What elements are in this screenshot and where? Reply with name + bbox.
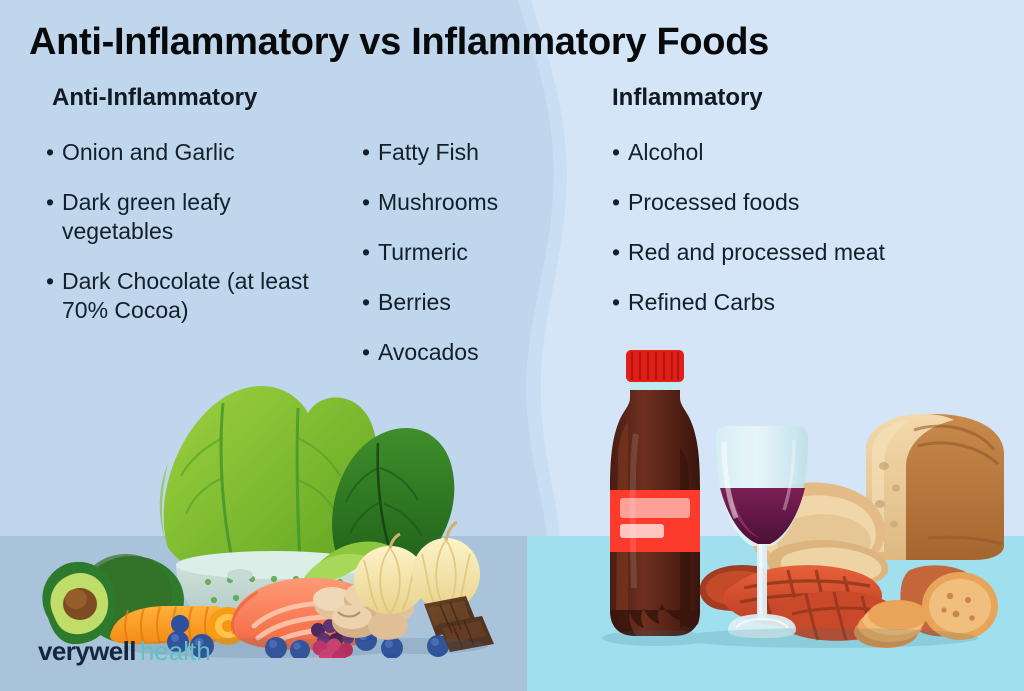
anti-inflammatory-list-column-2: • Fatty Fish • Mushrooms • Turmeric • Be… (362, 138, 582, 388)
list-item: • Turmeric (362, 238, 582, 267)
page-title: Anti-Inflammatory vs Inflammatory Foods (29, 21, 769, 64)
bread-loaf (866, 414, 1004, 560)
list-item-label: Berries (378, 288, 582, 317)
logo-word-health: health (140, 636, 211, 666)
bullet-icon: • (362, 238, 378, 267)
bullet-icon: • (46, 188, 62, 217)
list-item-label: Dark Chocolate (at least 70% Cocoa) (62, 267, 346, 325)
anti-inflammatory-foods-illustration (18, 368, 498, 658)
verywell-health-logo: verywellhealth (38, 636, 211, 666)
bullet-icon: • (612, 238, 628, 267)
list-item: • Fatty Fish (362, 138, 582, 167)
list-item: • Refined Carbs (612, 288, 1012, 317)
inflammatory-list: • Alcohol • Processed foods • Red and pr… (612, 138, 1012, 338)
bullet-icon: • (362, 288, 378, 317)
list-item: • Onion and Garlic (46, 138, 346, 167)
list-item: • Red and processed meat (612, 238, 1012, 267)
bullet-icon: • (362, 338, 378, 367)
bullet-icon: • (612, 138, 628, 167)
list-item: • Alcohol (612, 138, 1012, 167)
bullet-icon: • (362, 138, 378, 167)
section-heading-inflammatory: Inflammatory (612, 84, 763, 112)
bullet-icon: • (46, 267, 62, 296)
logo-word-verywell: verywell (38, 636, 136, 666)
section-heading-anti-inflammatory: Anti-Inflammatory (52, 84, 257, 112)
list-item: • Berries (362, 288, 582, 317)
bullet-icon: • (46, 138, 62, 167)
list-item-label: Processed foods (628, 188, 1012, 217)
list-item-label: Dark green leafy vegetables (62, 188, 346, 246)
soda-bottle (610, 350, 700, 636)
list-item-label: Refined Carbs (628, 288, 1012, 317)
list-item: • Dark Chocolate (at least 70% Cocoa) (46, 267, 346, 325)
list-item: • Mushrooms (362, 188, 582, 217)
list-item-label: Mushrooms (378, 188, 582, 217)
list-item-label: Red and processed meat (628, 238, 1012, 267)
anti-inflammatory-list-column-1: • Onion and Garlic • Dark green leafy ve… (46, 138, 346, 346)
list-item-label: Onion and Garlic (62, 138, 346, 167)
bullet-icon: • (612, 288, 628, 317)
list-item-label: Alcohol (628, 138, 1012, 167)
inflammatory-foods-illustration (588, 338, 1018, 658)
right-food-shadows (602, 628, 978, 648)
list-item: • Processed foods (612, 188, 1012, 217)
infographic-canvas: Anti-Inflammatory vs Inflammatory Foods … (0, 0, 1024, 691)
bullet-icon: • (362, 188, 378, 217)
list-item-label: Avocados (378, 338, 582, 367)
list-item: • Dark green leafy vegetables (46, 188, 346, 246)
list-item-label: Fatty Fish (378, 138, 582, 167)
bullet-icon: • (612, 188, 628, 217)
list-item-label: Turmeric (378, 238, 582, 267)
list-item: • Avocados (362, 338, 582, 367)
